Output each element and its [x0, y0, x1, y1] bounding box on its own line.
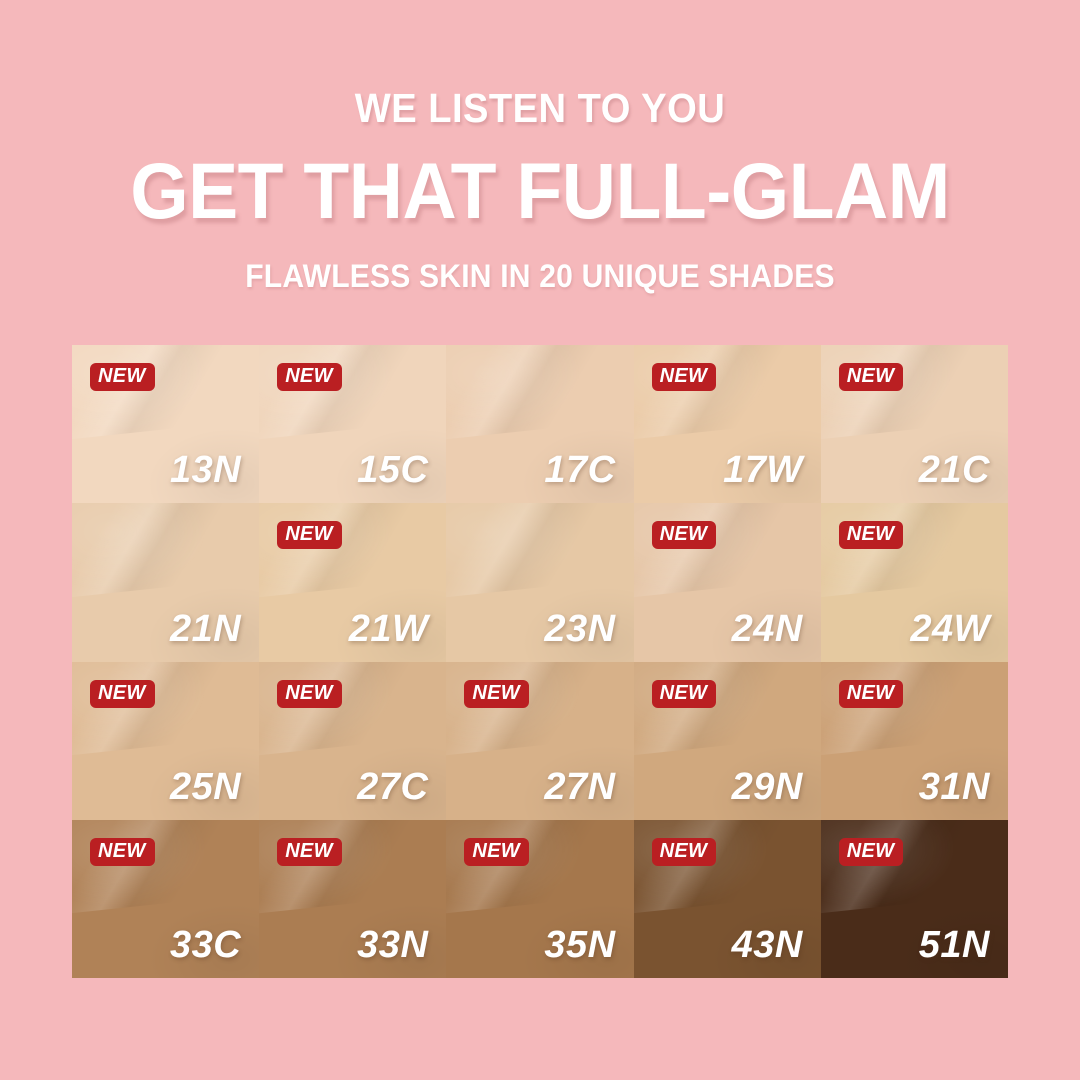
shade-swatch[interactable]: NEW21C — [821, 345, 1008, 503]
new-badge: NEW — [652, 521, 717, 549]
shade-swatch[interactable]: NEW35N — [446, 820, 633, 978]
shade-swatch[interactable]: NEW17W — [634, 345, 821, 503]
eyebrow-text: WE LISTEN TO YOU — [38, 88, 1042, 129]
shade-swatch[interactable]: 17C — [446, 345, 633, 503]
new-badge: NEW — [277, 680, 342, 708]
shade-label: 13N — [170, 451, 241, 489]
shade-label: 21N — [170, 610, 241, 648]
shade-swatch[interactable]: NEW33C — [72, 820, 259, 978]
shade-label: 31N — [919, 768, 990, 806]
shade-swatch[interactable]: NEW27C — [259, 662, 446, 820]
new-badge: NEW — [277, 838, 342, 866]
new-badge: NEW — [464, 680, 529, 708]
shade-label: 17C — [544, 451, 615, 489]
shade-label: 27N — [544, 768, 615, 806]
shade-swatch[interactable]: 21N — [72, 503, 259, 661]
shade-swatch[interactable]: NEW25N — [72, 662, 259, 820]
shade-label: 29N — [732, 768, 803, 806]
shade-swatch[interactable]: NEW33N — [259, 820, 446, 978]
shade-swatch[interactable]: NEW31N — [821, 662, 1008, 820]
shade-swatch[interactable]: NEW51N — [821, 820, 1008, 978]
shade-label: 27C — [357, 768, 428, 806]
new-badge: NEW — [652, 838, 717, 866]
shade-label: 24N — [732, 610, 803, 648]
new-badge: NEW — [652, 363, 717, 391]
new-badge: NEW — [652, 680, 717, 708]
shade-swatch[interactable]: NEW15C — [259, 345, 446, 503]
shade-swatch-grid: NEW13NNEW15C17CNEW17WNEW21C21NNEW21W23NN… — [72, 345, 1008, 978]
shade-label: 51N — [919, 926, 990, 964]
shade-swatch[interactable]: NEW43N — [634, 820, 821, 978]
shade-label: 15C — [357, 451, 428, 489]
shade-label: 21C — [919, 451, 990, 489]
subtitle-text: FLAWLESS SKIN IN 20 UNIQUE SHADES — [32, 260, 1047, 292]
shade-label: 33C — [170, 926, 241, 964]
shade-swatch[interactable]: NEW27N — [446, 662, 633, 820]
shade-swatch[interactable]: NEW21W — [259, 503, 446, 661]
promo-header: WE LISTEN TO YOU GET THAT FULL-GLAM FLAW… — [0, 0, 1080, 292]
new-badge: NEW — [90, 363, 155, 391]
new-badge: NEW — [277, 363, 342, 391]
new-badge: NEW — [90, 680, 155, 708]
shade-label: 43N — [732, 926, 803, 964]
new-badge: NEW — [839, 521, 904, 549]
shade-swatch[interactable]: NEW13N — [72, 345, 259, 503]
shade-swatch[interactable]: NEW24N — [634, 503, 821, 661]
shade-label: 24W — [910, 610, 990, 648]
new-badge: NEW — [277, 521, 342, 549]
new-badge: NEW — [464, 838, 529, 866]
shade-swatch[interactable]: NEW29N — [634, 662, 821, 820]
shade-label: 23N — [544, 610, 615, 648]
shade-label: 35N — [544, 926, 615, 964]
new-badge: NEW — [839, 680, 904, 708]
shade-label: 25N — [170, 768, 241, 806]
shade-label: 33N — [357, 926, 428, 964]
new-badge: NEW — [839, 363, 904, 391]
new-badge: NEW — [90, 838, 155, 866]
shade-swatch[interactable]: 23N — [446, 503, 633, 661]
shade-label: 21W — [349, 610, 429, 648]
shade-label: 17W — [723, 451, 803, 489]
shade-swatch[interactable]: NEW24W — [821, 503, 1008, 661]
new-badge: NEW — [839, 838, 904, 866]
page-title: GET THAT FULL-GLAM — [27, 151, 1053, 230]
